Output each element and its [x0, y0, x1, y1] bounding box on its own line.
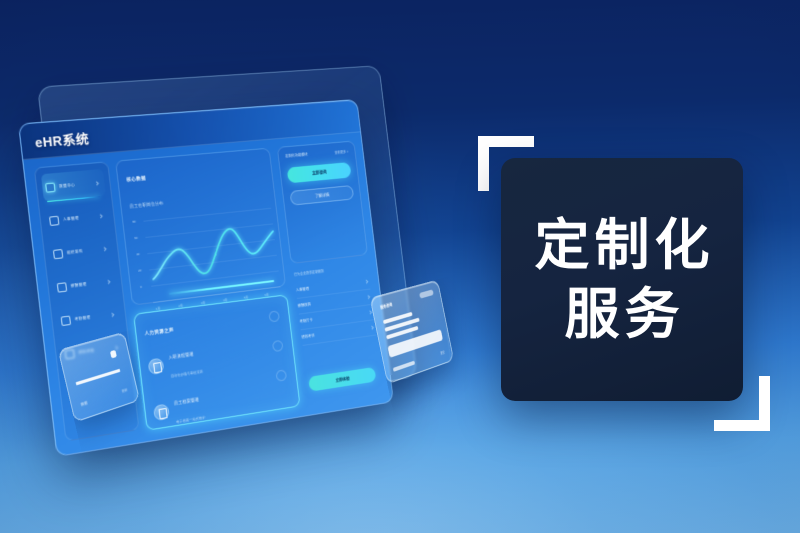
headline-plate: 定制化 服务	[501, 158, 743, 401]
secondary-button-label: 了解详情	[315, 192, 330, 199]
y-axis-tick: 20	[138, 268, 142, 272]
clock-icon	[61, 315, 71, 326]
footer-placeholder-bar	[393, 361, 415, 372]
chevron-right-icon	[368, 310, 372, 314]
module-list: 人事管理 薪酬核算 考勤打卡 绩效考评	[295, 274, 376, 346]
cta-button[interactable]: 立即体验	[308, 367, 376, 392]
cta-button-label: 立即体验	[335, 375, 350, 383]
sidebar-item-data-center[interactable]: 数据中心	[41, 169, 106, 201]
list-card-title: 人力资源之声	[144, 327, 174, 336]
chart-card-title: 核心数据	[126, 175, 146, 182]
dashboard-mockup: eHR系统 数据中心 人事管理 组织架构	[14, 65, 428, 466]
list-item[interactable]: 员工档案管理 电子档案一站式维护	[152, 374, 293, 431]
sidebar-item-org[interactable]: 组织架构	[49, 234, 114, 268]
sidebar-item-attendance[interactable]: 考勤管理	[56, 300, 121, 335]
floating-card-submit-label[interactable]: 提交	[440, 349, 445, 355]
list-item-subtitle: 电子档案一站式维护	[176, 415, 206, 424]
person-icon	[49, 215, 59, 225]
chevron-right-icon	[106, 279, 110, 283]
headline-text-group: 定制化 服务	[501, 158, 743, 401]
sidebar-item-label: 数据中心	[59, 182, 75, 189]
sidebar-item-label: 考勤管理	[74, 315, 90, 322]
x-axis-tick: 1月	[156, 306, 161, 311]
legend-accent-bar	[169, 280, 274, 295]
y-axis-tick: 60	[134, 236, 138, 240]
y-axis-tick: 0	[140, 285, 142, 289]
chart-icon	[45, 182, 55, 192]
view-more-link[interactable]: 查看更多 >	[334, 149, 348, 155]
chart-card-subtitle: 员工在职岗位分布	[129, 200, 163, 208]
chevron-right-icon	[366, 295, 370, 299]
primary-button-label: 立即咨询	[312, 169, 327, 176]
y-axis-tick: 80	[132, 219, 136, 223]
action-card: 定制化功能模块 查看更多 > 立即咨询 了解详情	[277, 140, 368, 264]
app-brand-logo: eHR系统	[34, 128, 90, 152]
chip-badge	[419, 289, 434, 298]
corner-bracket-bottom-right	[714, 376, 770, 431]
folder-icon	[153, 403, 170, 421]
sitemap-icon	[53, 248, 63, 258]
panel-meta-text: 已为企业提供定制服务	[294, 268, 325, 277]
chevron-right-icon	[102, 246, 106, 250]
headline-line-2: 服务	[559, 287, 684, 342]
chevron-right-icon	[95, 181, 99, 185]
chevron-right-icon	[365, 280, 369, 284]
floating-card-footer-left: 数据	[80, 400, 88, 407]
module-list-item-label: 考勤打卡	[299, 318, 313, 325]
line-chart-plot: 80 60 40 20 0	[132, 204, 283, 312]
chart-card-title-row: 核心数据	[125, 156, 264, 186]
headline-line-1: 定制化	[529, 218, 714, 273]
action-card-title: 定制化功能模块	[285, 152, 308, 159]
action-card-header: 定制化功能模块 查看更多 >	[285, 149, 349, 159]
x-axis-tick: 4月	[223, 298, 228, 303]
secondary-button[interactable]: 了解详情	[290, 185, 355, 206]
wallet-icon	[57, 282, 67, 292]
x-axis-tick: 3月	[201, 301, 206, 306]
floating-card-title: 服务咨询	[380, 302, 393, 311]
primary-button[interactable]: 立即咨询	[287, 162, 352, 183]
module-list-item-label: 人事管理	[296, 287, 310, 294]
module-list-item-label: 薪酬核算	[298, 302, 312, 309]
main-content: 核心数据 员工在职岗位分布 80 60 40 20 0	[115, 148, 300, 431]
highlight-list-card: 人力资源之声 入职流程管理 自动化办理与审批流转 员工档案管理	[133, 294, 300, 431]
banner-canvas: eHR系统 数据中心 人事管理 组织架构	[0, 0, 800, 533]
y-axis-tick: 40	[136, 252, 140, 256]
module-list-item-label: 绩效考评	[301, 333, 315, 340]
sidebar-item-label: 人事管理	[63, 215, 79, 222]
chevron-right-icon	[370, 326, 374, 330]
